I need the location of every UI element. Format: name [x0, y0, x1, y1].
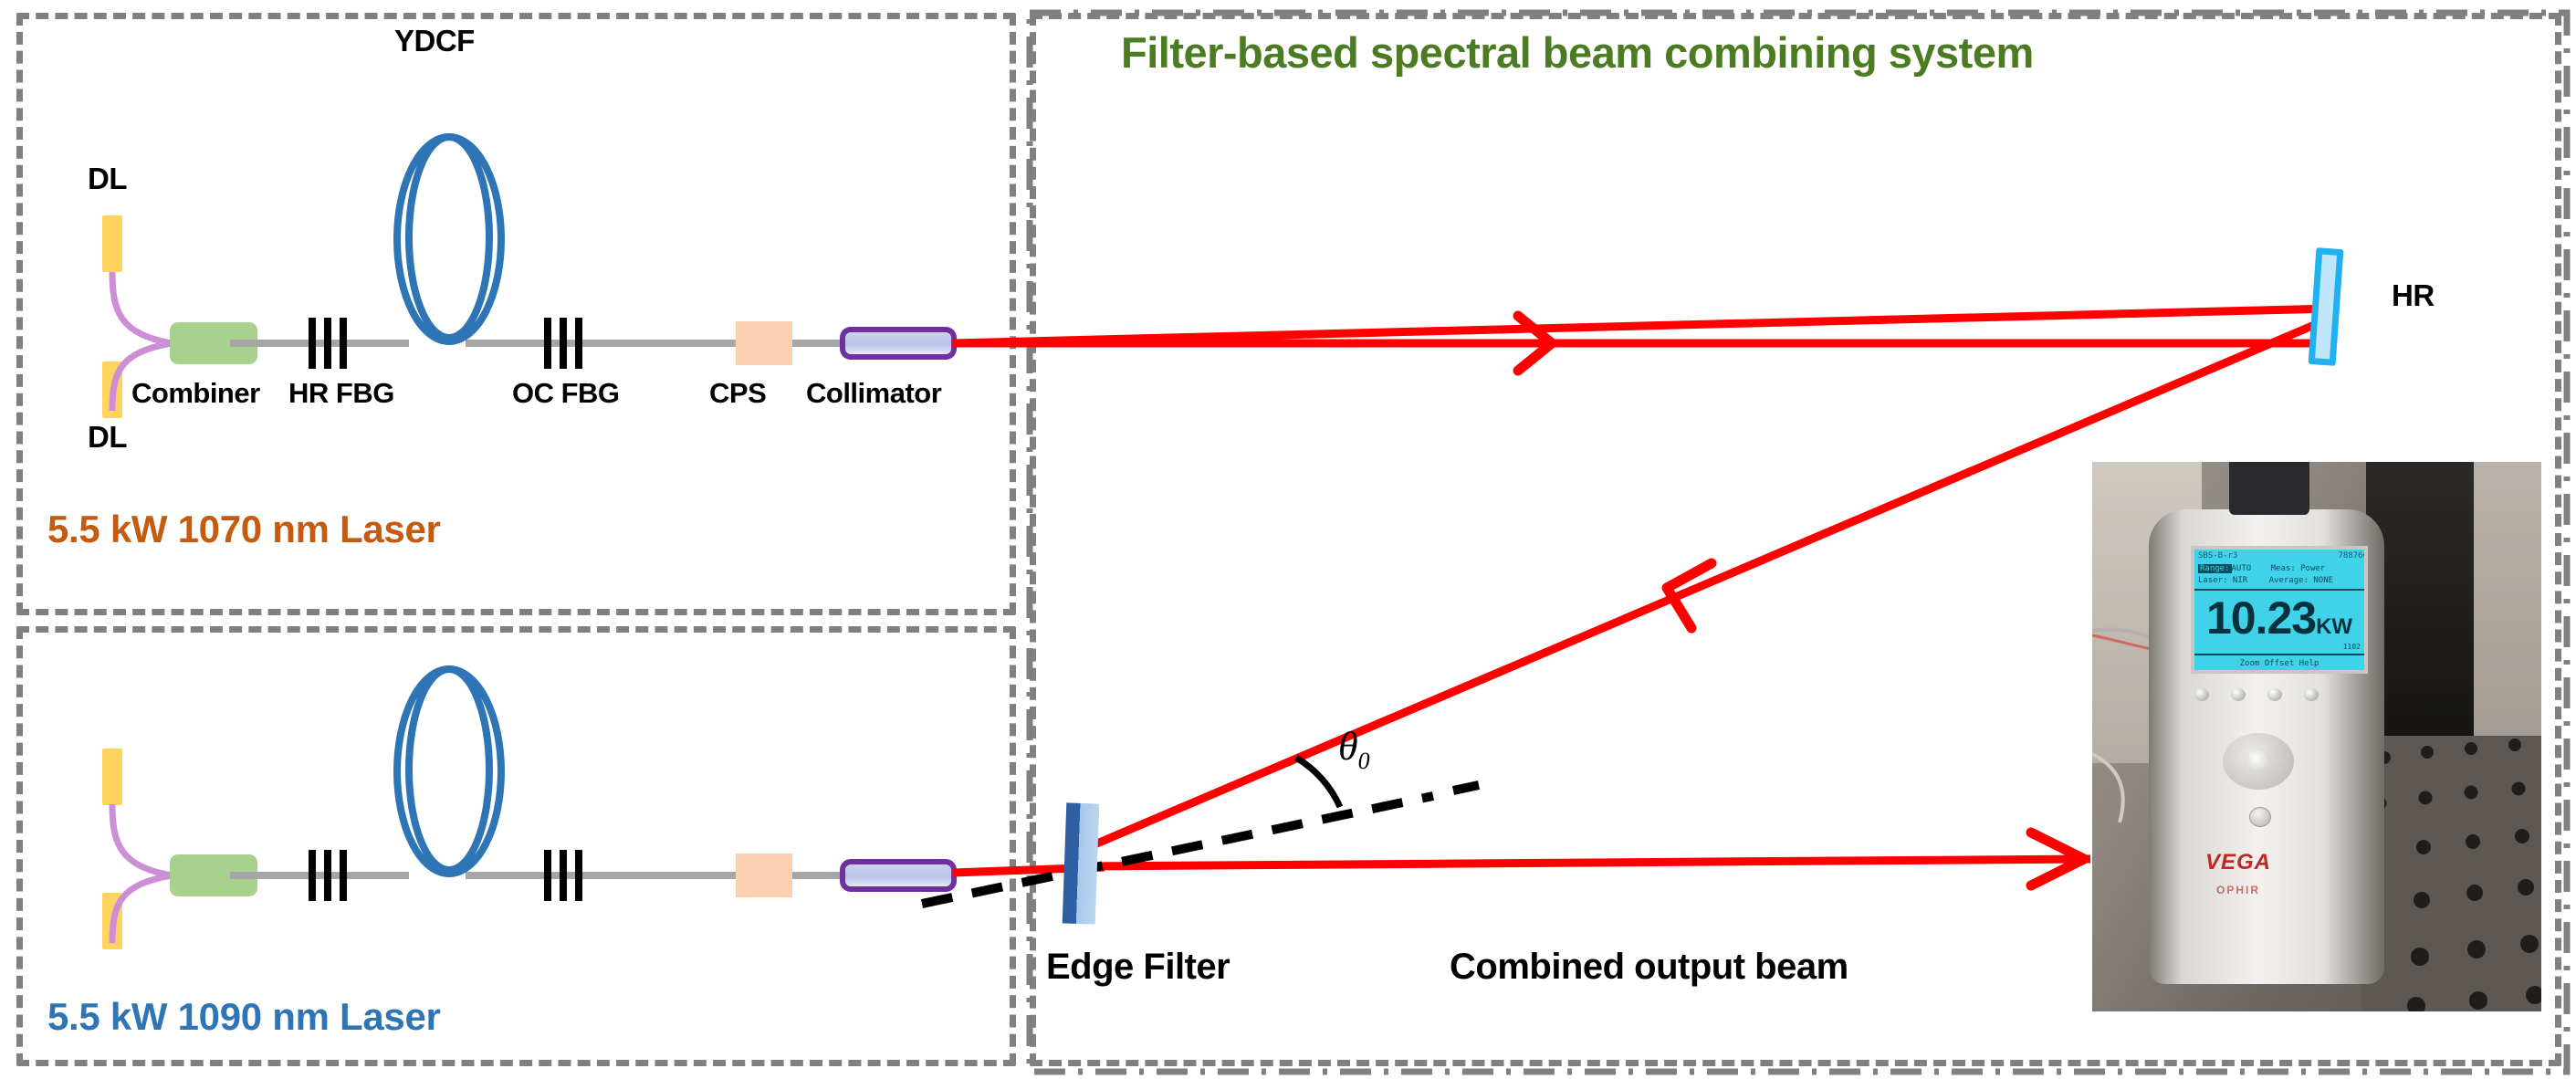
- screen-divider-bottom: [2194, 654, 2368, 655]
- theta-subscript: 0: [1358, 748, 1370, 774]
- collimator-2: [840, 859, 957, 892]
- laser1-caption: 5.5 kW 1070 nm Laser: [47, 508, 441, 551]
- softkey-button-2[interactable]: [2231, 688, 2246, 701]
- power-meter-photo: SBS-B-r3 788766 Range:AUTO Meas: Power L…: [2092, 462, 2541, 1011]
- nav-center-button[interactable]: [2246, 750, 2271, 772]
- softkey-button-1[interactable]: [2194, 688, 2209, 701]
- combiner-label: Combiner: [131, 377, 260, 410]
- power-reading-value: 10.23: [2206, 592, 2316, 644]
- screen-softkeys: Zoom Offset Help: [2194, 659, 2364, 668]
- sbc-title: Filter-based spectral beam combining sys…: [1121, 27, 2034, 78]
- collimator-1: [840, 327, 957, 360]
- fiber-seg-1e: [792, 340, 847, 347]
- hr-fbg-2: [309, 850, 347, 901]
- figure-canvas: Filter-based spectral beam combining sys…: [0, 0, 2576, 1079]
- fiber-seg-1a2: [230, 340, 265, 347]
- fiber-seg-2e: [792, 872, 847, 879]
- power-meter-screen: SBS-B-r3 788766 Range:AUTO Meas: Power L…: [2191, 546, 2368, 674]
- ydcf-coil-2: [358, 662, 540, 881]
- screen-laser-mode: Laser: NIR: [2198, 576, 2247, 585]
- oc-fbg-label: OC FBG: [512, 377, 620, 410]
- cladding-power-stripper-1: [736, 321, 792, 365]
- screen-range-val: AUTO: [2232, 564, 2252, 573]
- hr-mirror-label: HR: [2392, 278, 2435, 313]
- incidence-angle-label: θ0: [1338, 723, 1370, 775]
- power-button[interactable]: [2249, 807, 2271, 827]
- screen-average: Average: NONE: [2269, 576, 2333, 585]
- edge-filter: [1063, 802, 1100, 924]
- screen-corner-value: 1102: [2343, 643, 2361, 651]
- hr-fbg-1: [309, 318, 347, 369]
- collimator-label: Collimator: [806, 377, 941, 410]
- softkey-button-3[interactable]: [2267, 688, 2282, 701]
- dl-top-label: DL: [88, 162, 127, 196]
- screen-header-right: 788766: [2338, 551, 2368, 562]
- vega-brand-label: VEGA: [2092, 850, 2384, 875]
- screen-divider-top: [2194, 589, 2368, 591]
- ydcf-label: YDCF: [394, 24, 475, 58]
- softkey-button-4[interactable]: [2304, 688, 2319, 701]
- cps-label: CPS: [709, 377, 766, 410]
- power-reading-unit: KW: [2316, 614, 2352, 639]
- screen-meas: Meas: Power: [2271, 564, 2326, 573]
- laser2-caption: 5.5 kW 1090 nm Laser: [47, 995, 441, 1039]
- ophir-brand-label: OPHIR: [2092, 884, 2384, 896]
- optical-table-holes: [2361, 736, 2541, 1011]
- oc-fbg-2: [544, 850, 582, 901]
- oc-fbg-1: [544, 318, 582, 369]
- ydcf-coil-1: [358, 130, 540, 349]
- power-meter-sensor-cable: [2229, 462, 2309, 515]
- screen-range-key: Range:: [2198, 564, 2232, 573]
- diode-laser-top: [102, 215, 122, 272]
- edge-filter-label: Edge Filter: [1046, 947, 1230, 988]
- screen-header-left: SBS-B-r3: [2198, 551, 2237, 562]
- diode-laser-top-2: [102, 749, 122, 805]
- hr-fbg-label: HR FBG: [288, 377, 394, 410]
- cladding-power-stripper-2: [736, 854, 792, 897]
- combined-output-beam-label: Combined output beam: [1450, 947, 1848, 988]
- theta-symbol: θ: [1338, 724, 1358, 769]
